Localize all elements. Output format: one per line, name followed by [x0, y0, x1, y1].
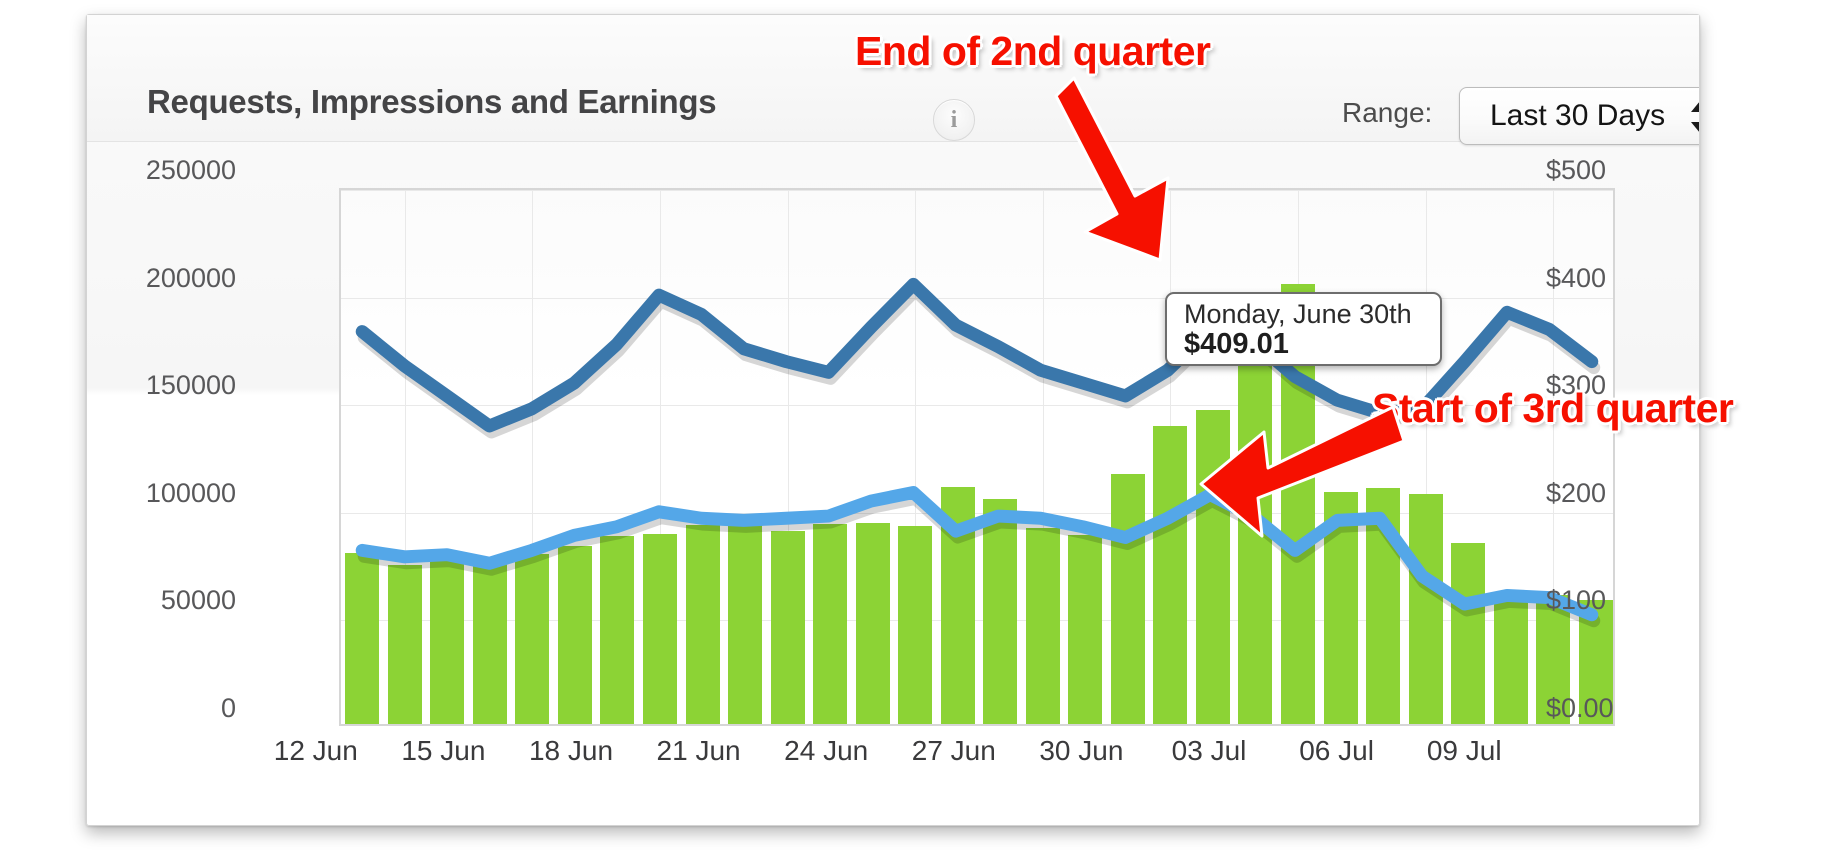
x-axis-tick: 06 Jul — [1299, 735, 1374, 767]
y-axis-left-tick: 200000 — [146, 263, 236, 294]
annotation-end-of-2nd-quarter: End of 2nd quarter — [855, 28, 1210, 75]
y-axis-left-tick: 100000 — [146, 478, 236, 509]
x-axis-tick: 24 Jun — [784, 735, 868, 767]
y-axis-left-tick: 0 — [221, 693, 236, 724]
tooltip-value: $409.01 — [1184, 328, 1289, 361]
x-axis-tick: 12 Jun — [274, 735, 358, 767]
y-axis-left-tick: 250000 — [146, 155, 236, 186]
y-axis-left-tick: 150000 — [146, 370, 236, 401]
screenshot-root: Requests, Impressions and Earnings i Ran… — [0, 0, 1846, 866]
x-axis-tick: 27 Jun — [912, 735, 996, 767]
x-axis-tick: 30 Jun — [1039, 735, 1123, 767]
y-axis-right-tick: $400 — [1546, 263, 1606, 294]
line-series-group — [341, 190, 1613, 726]
x-axis-tick: 18 Jun — [529, 735, 613, 767]
y-axis-right-tick: $500 — [1546, 155, 1606, 186]
data-point-tooltip: Monday, June 30th $409.01 — [1165, 292, 1442, 366]
info-icon-glyph: i — [934, 100, 974, 140]
x-axis-tick: 03 Jul — [1172, 735, 1247, 767]
tooltip-date: Monday, June 30th — [1184, 299, 1412, 330]
y-axis-right-tick: $100 — [1546, 585, 1606, 616]
range-label: Range: — [1342, 97, 1432, 129]
annotation-start-of-3rd-quarter: Start of 3rd quarter — [1372, 385, 1733, 432]
y-axis-right-tick: $200 — [1546, 478, 1606, 509]
y-axis-left-ticks: 050000100000150000200000250000 — [20, 0, 236, 866]
plot-area — [339, 188, 1615, 726]
info-icon[interactable]: i — [933, 99, 975, 141]
x-axis-tick: 21 Jun — [657, 735, 741, 767]
y-axis-right-tick: $0.00 — [1546, 693, 1614, 724]
x-axis-tick: 15 Jun — [401, 735, 485, 767]
y-axis-right-ticks: $0.00$100$200$300$400$500 — [1546, 0, 1776, 866]
y-axis-left-tick: 50000 — [161, 585, 236, 616]
x-axis-tick: 09 Jul — [1427, 735, 1502, 767]
